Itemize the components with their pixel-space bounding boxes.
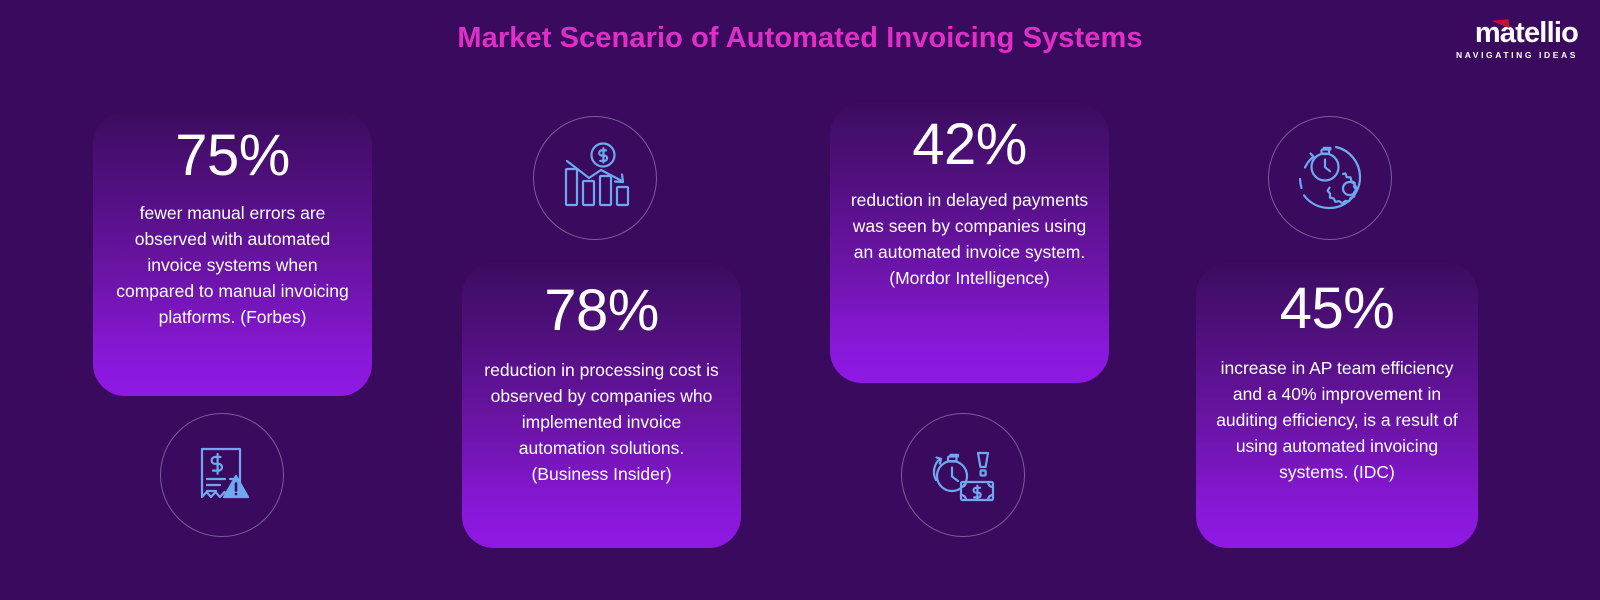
logo-accent-icon [1492, 19, 1510, 30]
infographic-canvas: Market Scenario of Automated Invoicing S… [0, 0, 1600, 600]
stopwatch-gear-glyph [1292, 140, 1368, 216]
delayed-payment-icon [901, 413, 1025, 537]
stat-percent: 75% [109, 112, 356, 185]
stat-percent: 78% [478, 263, 725, 340]
stat-card: 45% increase in AP team efficiency and a… [1196, 263, 1478, 548]
page-title: Market Scenario of Automated Invoicing S… [0, 22, 1600, 55]
delayed-payment-glyph [924, 436, 1002, 514]
stat-body: reduction in processing cost is observed… [478, 340, 725, 487]
declining-bar-chart-icon [533, 116, 657, 240]
invoice-warning-glyph [184, 437, 260, 513]
stat-percent: 45% [1212, 263, 1462, 338]
declining-bar-chart-glyph [556, 139, 634, 217]
stat-card: 78% reduction in processing cost is obse… [462, 263, 741, 548]
stopwatch-gear-icon [1268, 116, 1392, 240]
stat-card: 42% reduction in delayed payments was se… [830, 103, 1109, 383]
stat-body: fewer manual errors are observed with au… [109, 185, 356, 330]
stat-body: reduction in delayed payments was seen b… [846, 174, 1093, 292]
invoice-warning-icon [160, 413, 284, 537]
logo-tagline: NAVIGATING IDEAS [1408, 50, 1578, 60]
stat-body: increase in AP team efficiency and a 40%… [1212, 338, 1462, 485]
brand-logo: matellio NAVIGATING IDEAS [1408, 18, 1578, 64]
stat-percent: 42% [846, 103, 1093, 174]
stat-card: 75% fewer manual errors are observed wit… [93, 112, 372, 396]
